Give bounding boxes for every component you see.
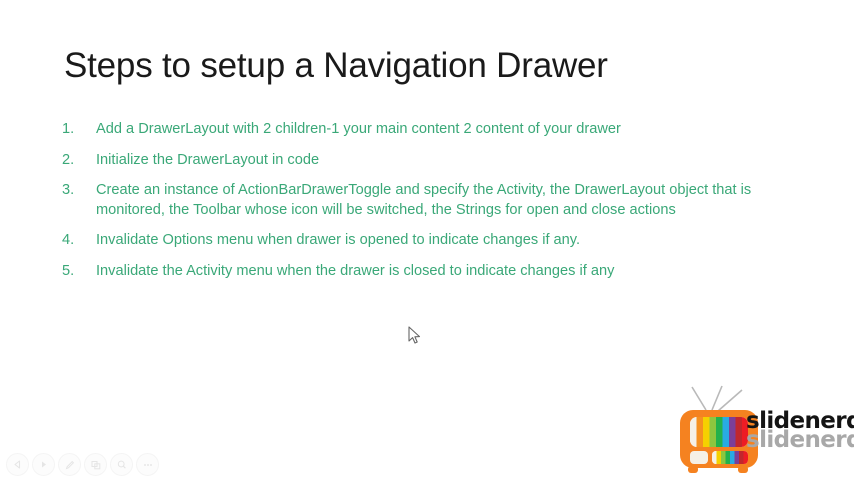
- play-icon: [38, 459, 49, 470]
- more-icon: [142, 459, 154, 471]
- list-item: 5. Invalidate the Activity menu when the…: [62, 262, 792, 282]
- pen-button[interactable]: [58, 453, 81, 476]
- list-item-number: 5.: [62, 262, 96, 282]
- list-item-text: Initialize the DrawerLayout in code: [96, 151, 786, 171]
- list-item-number: 3.: [62, 181, 96, 201]
- list-item: 2. Initialize the DrawerLayout in code: [62, 151, 792, 171]
- previous-button[interactable]: [6, 453, 29, 476]
- list-item: 1. Add a DrawerLayout with 2 children-1 …: [62, 120, 792, 140]
- list-item-number: 2.: [62, 151, 96, 171]
- list-item-number: 1.: [62, 120, 96, 140]
- magnifier-icon: [116, 459, 128, 471]
- play-button[interactable]: [32, 453, 55, 476]
- mouse-cursor: [408, 326, 422, 346]
- page-title: Steps to setup a Navigation Drawer: [64, 46, 608, 86]
- steps-list: 1. Add a DrawerLayout with 2 children-1 …: [62, 120, 792, 292]
- list-item-number: 4.: [62, 231, 96, 251]
- list-item: 4. Invalidate Options menu when drawer i…: [62, 231, 792, 251]
- list-item-text: Invalidate Options menu when drawer is o…: [96, 231, 786, 251]
- logo-wordmark: slidenerd slidenerd: [746, 410, 854, 462]
- player-toolbar: [6, 453, 159, 476]
- previous-icon: [12, 459, 23, 470]
- slides-grid-icon: [90, 459, 102, 471]
- pen-icon: [64, 459, 76, 471]
- zoom-button[interactable]: [110, 453, 133, 476]
- list-item-text: Create an instance of ActionBarDrawerTog…: [96, 181, 786, 220]
- logo-word-front: slidenerd: [746, 410, 854, 433]
- list-item-text: Add a DrawerLayout with 2 children-1 you…: [96, 120, 786, 140]
- slidenerd-logo: slidenerd slidenerd: [676, 384, 852, 476]
- list-item-text: Invalidate the Activity menu when the dr…: [96, 262, 786, 282]
- more-button[interactable]: [136, 453, 159, 476]
- list-item: 3. Create an instance of ActionBarDrawer…: [62, 181, 792, 220]
- slide-canvas: Steps to setup a Navigation Drawer 1. Ad…: [0, 0, 854, 480]
- slides-grid-button[interactable]: [84, 453, 107, 476]
